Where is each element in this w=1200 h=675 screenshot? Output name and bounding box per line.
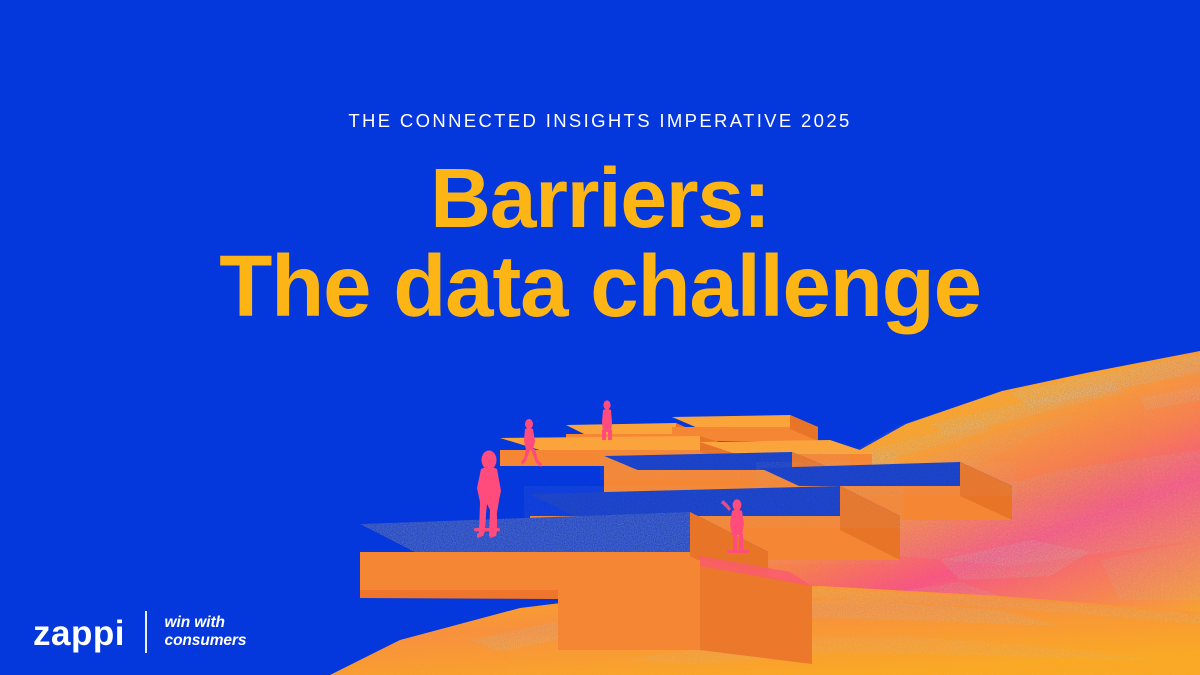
page-title-line-1: Barriers: bbox=[0, 157, 1200, 240]
right-platform bbox=[700, 506, 900, 566]
figure-standing-top bbox=[602, 400, 612, 440]
step-platform-6 bbox=[756, 462, 1016, 520]
dune-hillside bbox=[690, 340, 1200, 675]
foreground-dune bbox=[320, 580, 1200, 675]
page-title: Barriers: The data challenge bbox=[0, 157, 1200, 330]
brand-tagline-line-1: win with bbox=[165, 614, 247, 632]
step-platform-2 bbox=[672, 415, 818, 441]
eyebrow-label: THE CONNECTED INSIGHTS IMPERATIVE 2025 bbox=[0, 112, 1200, 131]
figure-walking-upper bbox=[521, 419, 542, 467]
hero-text-block: THE CONNECTED INSIGHTS IMPERATIVE 2025 B… bbox=[0, 0, 1200, 330]
step-platform-8-front bbox=[360, 512, 768, 600]
step-platform-3 bbox=[500, 436, 744, 466]
step-platform-1 bbox=[566, 423, 700, 446]
figure-standing-right bbox=[721, 499, 749, 553]
slide-canvas: THE CONNECTED INSIGHTS IMPERATIVE 2025 B… bbox=[0, 0, 1200, 675]
step-platform-9-base bbox=[558, 556, 812, 664]
brand-tagline: win with consumers bbox=[165, 614, 247, 651]
page-title-line-2: The data challenge bbox=[0, 244, 1200, 330]
logo-divider bbox=[145, 611, 147, 653]
step-platform-7 bbox=[524, 486, 904, 560]
figure-standing-large bbox=[474, 451, 501, 539]
step-platform-5 bbox=[600, 450, 854, 500]
brand-logo-lockup[interactable]: zappi win with consumers bbox=[33, 611, 246, 653]
zappi-wordmark: zappi bbox=[33, 616, 125, 651]
step-platform-4 bbox=[700, 440, 872, 470]
brand-tagline-line-2: consumers bbox=[165, 632, 247, 650]
